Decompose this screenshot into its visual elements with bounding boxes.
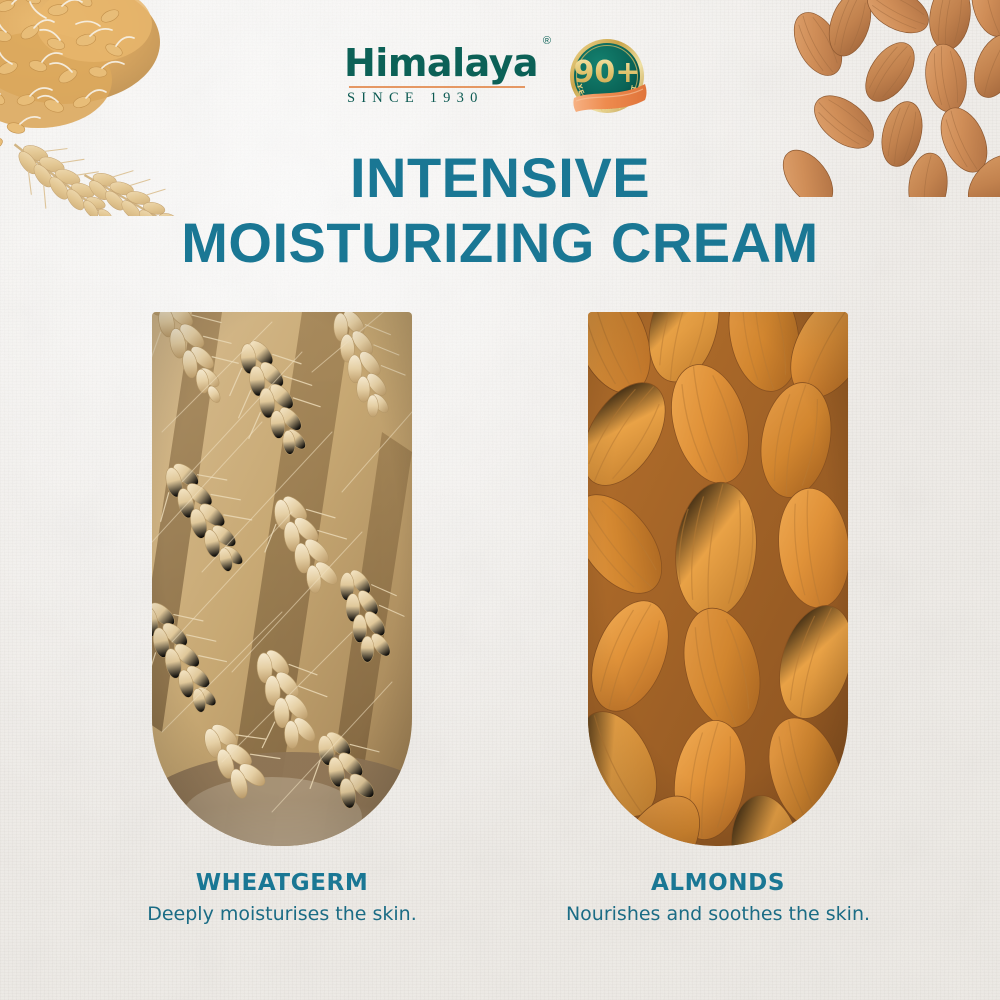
logo-brand-name: Himalaya [344,43,538,83]
himalaya-logo[interactable]: Himalaya ® SINCE 1930 [347,37,537,115]
caption-description-wheatgerm: Deeply moisturises the skin. [72,903,492,925]
logo-since-tagline: SINCE 1930 [347,90,537,107]
ingredient-panels [0,312,1000,846]
almonds-photo [588,312,848,846]
caption-title-almonds: ALMONDS [508,870,928,896]
years-of-trust-badge: 90+ YEARS OF TRUST [561,32,653,120]
logo-underline-rule [349,86,525,88]
headline-line-1: INTENSIVE [0,148,1000,207]
caption-title-wheatgerm: WHEATGERM [72,870,492,896]
page-title: INTENSIVE MOISTURIZING CREAM [0,148,1000,273]
logo-wordmark-row: Himalaya ® [347,37,537,83]
wheatgerm-photo [152,312,412,846]
ingredient-captions: WHEATGERM Deeply moisturises the skin. A… [0,870,1000,950]
headline-line-2: MOISTURIZING CREAM [0,213,1000,272]
brand-header: Himalaya ® SINCE 1930 [0,28,1000,124]
product-promo-poster: Himalaya ® SINCE 1930 [0,0,1000,1000]
caption-wheatgerm: WHEATGERM Deeply moisturises the skin. [72,870,492,925]
ingredient-panel-almonds[interactable] [588,312,848,846]
badge-number: 90+ [574,55,641,90]
registered-trademark-icon: ® [543,35,551,47]
caption-almonds: ALMONDS Nourishes and soothes the skin. [508,870,928,925]
caption-description-almonds: Nourishes and soothes the skin. [508,903,928,925]
ingredient-panel-wheatgerm[interactable] [152,312,412,846]
